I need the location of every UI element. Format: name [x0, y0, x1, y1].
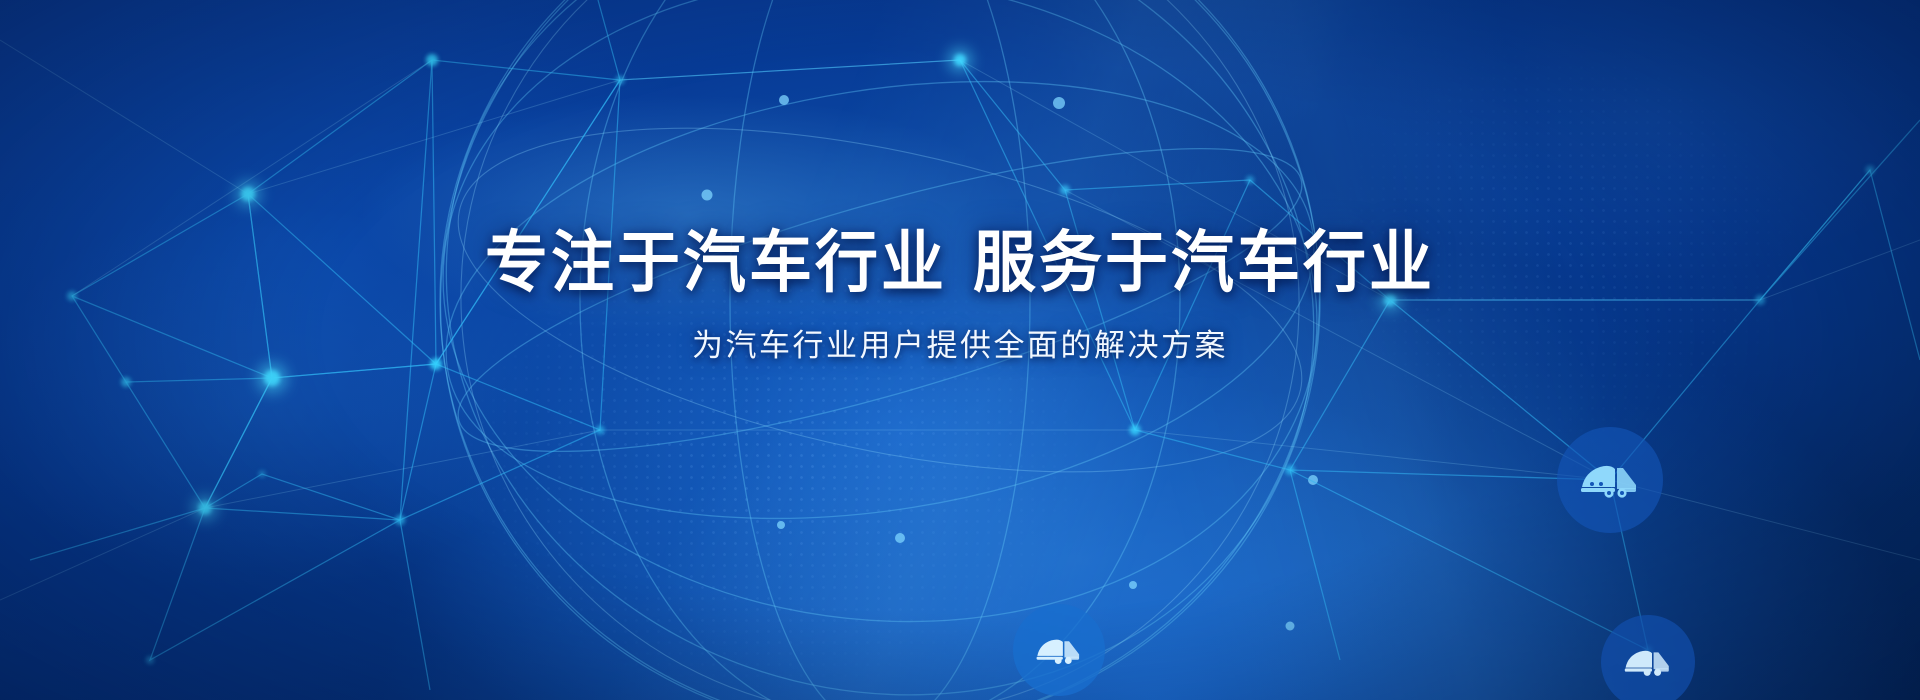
truck-icon-large — [1579, 460, 1641, 500]
truck-badge-corner — [1601, 615, 1695, 700]
hero-copy: 专注于汽车行业服务于汽车行业 为汽车行业用户提供全面的解决方案 — [0, 226, 1920, 367]
headline-segment-1: 专注于汽车行业 — [485, 224, 947, 301]
truck-icon-small — [1035, 635, 1083, 666]
halftone-dot-texture — [400, 120, 1220, 700]
headline-segment-2: 服务于汽车行业 — [973, 224, 1435, 301]
truck-badge-small — [1013, 604, 1105, 696]
truck-badge-large — [1557, 427, 1663, 533]
page-subtitle: 为汽车行业用户提供全面的解决方案 — [0, 326, 1920, 366]
truck-icon-corner — [1623, 646, 1673, 678]
hero-banner: 专注于汽车行业服务于汽车行业 为汽车行业用户提供全面的解决方案 — [0, 0, 1920, 700]
page-title: 专注于汽车行业服务于汽车行业 — [0, 224, 1920, 303]
